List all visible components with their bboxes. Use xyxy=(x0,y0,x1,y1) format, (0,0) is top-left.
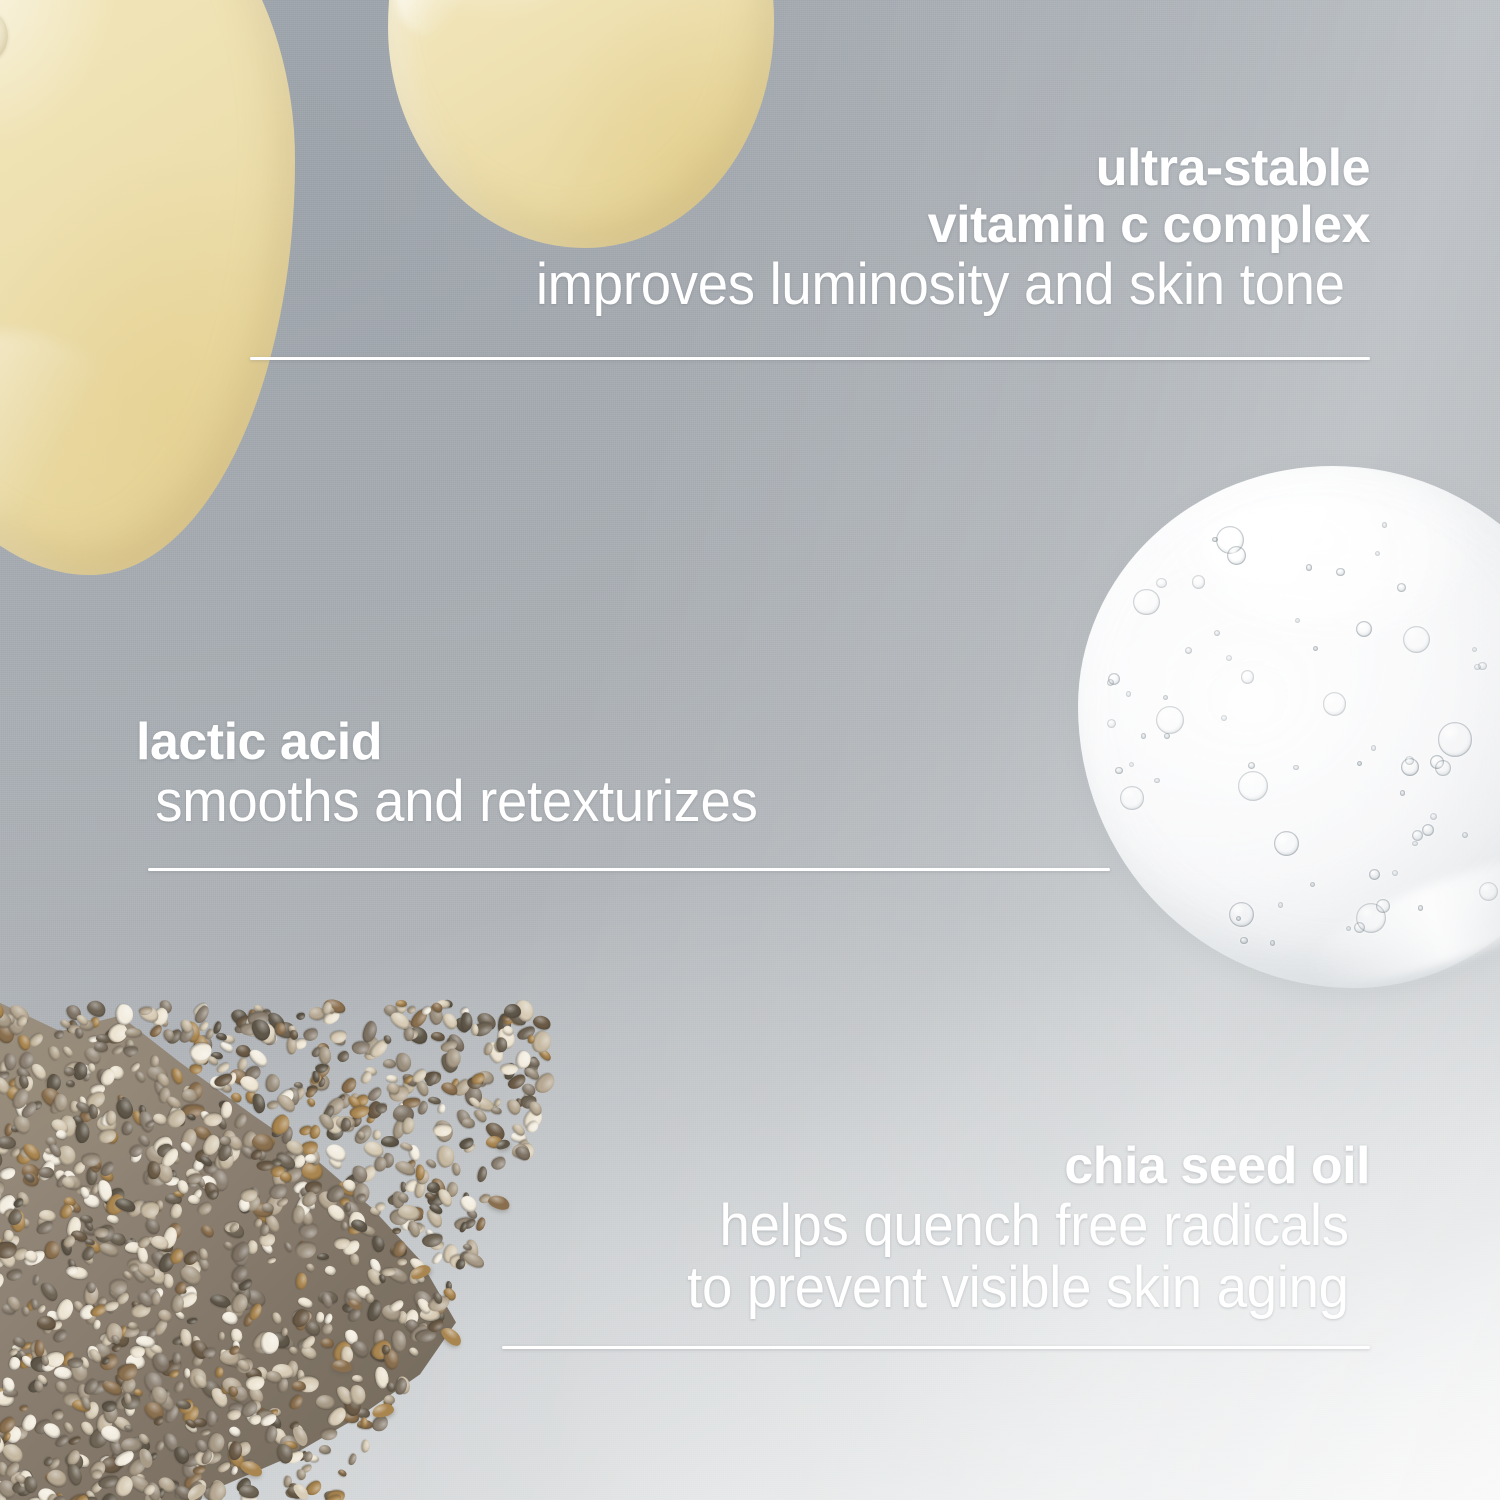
gel-bubble xyxy=(1241,670,1255,684)
gel-bubble xyxy=(1278,902,1283,907)
chia-seed xyxy=(305,1153,318,1162)
chia-seed xyxy=(317,1046,331,1065)
chia-seed xyxy=(265,1074,281,1093)
chia-seed xyxy=(309,1124,322,1140)
chia-seed xyxy=(360,1439,370,1453)
chia-seed xyxy=(406,1219,421,1238)
chia-seed xyxy=(452,1162,462,1176)
gel-bubble xyxy=(1248,762,1255,769)
chia-seed xyxy=(527,1034,535,1044)
gel-bubble xyxy=(1295,618,1300,623)
callout-headline-line1: lactic acid xyxy=(136,714,777,771)
gel-bubble xyxy=(1274,831,1299,856)
chia-seed xyxy=(431,1251,444,1266)
chia-seed xyxy=(458,1192,481,1215)
gel-bubble xyxy=(1108,673,1120,685)
chia-seed-stray xyxy=(439,1324,465,1349)
gel-bubble xyxy=(1126,691,1131,696)
gel-bubble xyxy=(1356,903,1386,933)
gel-bubble xyxy=(1154,778,1159,783)
chia-seed-pile xyxy=(0,1000,600,1500)
gel-bubble xyxy=(1141,733,1147,739)
gel-bubble xyxy=(1293,765,1299,771)
chia-seed xyxy=(415,1164,425,1180)
callout-subtitle-line2: to prevent visible skin aging xyxy=(687,1257,1349,1319)
gel-bubble xyxy=(1392,870,1398,876)
chia-seed xyxy=(151,1055,160,1067)
gel-bubble xyxy=(1478,662,1487,671)
chia-seed xyxy=(251,1092,267,1114)
gel-bubble xyxy=(1185,647,1192,654)
chia-seed xyxy=(106,1110,116,1125)
gel-bubble xyxy=(1229,902,1254,927)
chia-seed xyxy=(383,1059,397,1069)
chia-seed xyxy=(430,1031,446,1042)
gel-bubble xyxy=(1336,568,1344,576)
gel-bubble xyxy=(1115,767,1122,774)
callout-vitamin-c: ultra-stable vitamin c complex improves … xyxy=(510,140,1371,316)
gel-bubble xyxy=(1323,692,1347,716)
gel-bubble xyxy=(1156,706,1184,734)
gel-bubble xyxy=(1133,589,1160,616)
gel-bubble xyxy=(1163,695,1168,700)
chia-seed xyxy=(504,1004,521,1018)
gel-bubble xyxy=(1405,756,1414,765)
gel-bubble xyxy=(1435,760,1451,776)
chia-seed xyxy=(437,1104,446,1115)
chia-seed xyxy=(392,1228,401,1235)
callout-divider-chia-seed-oil xyxy=(502,1346,1370,1349)
chia-seed xyxy=(372,1129,381,1140)
chia-seed xyxy=(395,1052,412,1073)
gel-bubble xyxy=(1212,537,1218,543)
gel-bubble xyxy=(1226,655,1232,661)
chia-seed xyxy=(492,1097,502,1108)
chia-seed xyxy=(207,1410,217,1427)
chia-seed xyxy=(499,1064,518,1076)
chia-seed xyxy=(474,1216,487,1232)
chia-seed xyxy=(115,1003,133,1025)
chia-seed xyxy=(319,1444,332,1455)
gel-bubble xyxy=(1357,761,1362,766)
chia-seed xyxy=(337,1468,348,1478)
callout-headline-line2: vitamin c complex xyxy=(510,197,1371,254)
gel-bubble xyxy=(1164,733,1170,739)
gel-bubble xyxy=(1438,722,1472,756)
callout-lactic-acid: lactic acid smooths and retexturizes xyxy=(136,714,777,833)
callout-subtitle: improves luminosity and skin tone xyxy=(535,254,1344,316)
chia-seed xyxy=(462,1250,487,1271)
chia-seed xyxy=(347,1453,357,1466)
chia-seed xyxy=(34,1339,45,1356)
chia-seed xyxy=(361,1417,368,1428)
callout-chia-seed-oil: chia seed oil helps quench free radicals… xyxy=(666,1138,1370,1319)
gel-bubble xyxy=(1369,869,1380,880)
ingredient-infographic: ultra-stable vitamin c complex improves … xyxy=(0,0,1500,1500)
gel-bubble xyxy=(1236,916,1241,921)
chia-seed xyxy=(441,1011,460,1031)
chia-seed xyxy=(84,997,108,1019)
chia-seed xyxy=(425,1158,438,1170)
gel-bubble xyxy=(1382,522,1387,527)
callout-headline-line1: ultra-stable xyxy=(510,140,1371,197)
callout-subtitle: smooths and retexturizes xyxy=(155,771,757,833)
gel-bubble xyxy=(1356,621,1372,637)
chia-seed xyxy=(307,1097,318,1108)
callout-divider-lactic-acid xyxy=(148,868,1110,871)
chia-seed xyxy=(219,1136,230,1145)
chia-seed xyxy=(215,1032,227,1042)
chia-seed xyxy=(344,1203,350,1213)
callout-subtitle-line1: helps quench free radicals xyxy=(687,1195,1349,1257)
chia-seed xyxy=(336,1049,351,1064)
gel-bubble xyxy=(1306,564,1313,571)
gel-bubble xyxy=(1227,546,1246,565)
chia-seed xyxy=(295,1012,306,1021)
callout-divider-vitamin-c xyxy=(250,357,1370,360)
gel-bubble xyxy=(1270,940,1276,946)
chia-seed xyxy=(461,1117,476,1128)
chia-seed-stray xyxy=(487,1193,512,1212)
gel-bubble xyxy=(1240,937,1248,945)
chia-seed xyxy=(266,1100,280,1111)
chia-seed xyxy=(382,1345,390,1355)
gel-bubble xyxy=(1310,882,1315,887)
chia-seed xyxy=(188,1063,202,1074)
gel-bubble xyxy=(1238,771,1268,801)
gel-bubble xyxy=(1120,786,1143,809)
chia-seed xyxy=(39,1167,55,1178)
chia-seed xyxy=(476,1165,489,1183)
callout-headline-line1: chia seed oil xyxy=(666,1138,1370,1195)
gel-bubble xyxy=(1418,905,1423,910)
chia-seed xyxy=(324,1141,349,1164)
gel-bubble xyxy=(1107,719,1116,728)
gel-bubble xyxy=(1400,790,1405,795)
chia-seed xyxy=(489,1155,508,1173)
gel-bubble xyxy=(1156,578,1167,589)
serum-bubble xyxy=(0,7,8,65)
